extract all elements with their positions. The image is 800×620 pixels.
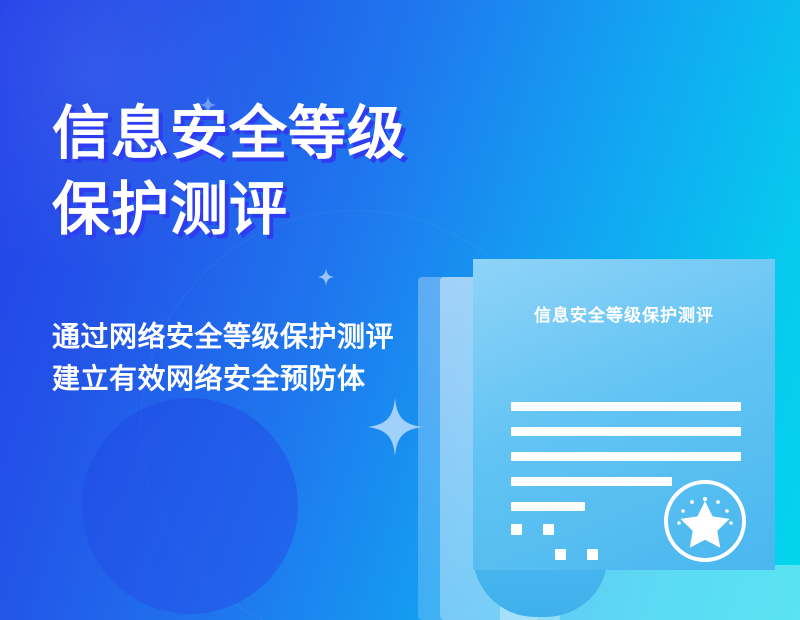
background-circle <box>82 398 298 614</box>
sparkle-icon <box>318 268 334 286</box>
certificate-text-line-1 <box>511 402 741 411</box>
certificate-square-2 <box>543 524 554 535</box>
certificate-square-4 <box>587 549 598 560</box>
star-seal-icon <box>661 477 749 565</box>
page-title: 信息安全等级 保护测评 <box>52 96 522 248</box>
certificate-square-1 <box>511 524 522 535</box>
promo-banner: 信息安全等级 保护测评 通过网络安全等级保护测评 建立有效网络安全预防体 信息安… <box>0 0 800 620</box>
headline-line-2: 保护测评 <box>52 172 522 248</box>
headline-line-1: 信息安全等级 <box>52 96 522 172</box>
certificate-title: 信息安全等级保护测评 <box>473 301 775 326</box>
certificate-square-3 <box>555 549 566 560</box>
certificate-text-line-4 <box>511 477 672 486</box>
certificate-card-stack: 信息安全等级保护测评 <box>408 255 800 620</box>
certificate-text-line-3 <box>511 452 741 461</box>
certificate-text-line-5 <box>511 502 585 511</box>
certificate-card: 信息安全等级保护测评 <box>473 259 775 570</box>
certificate-text-line-2 <box>511 427 741 436</box>
